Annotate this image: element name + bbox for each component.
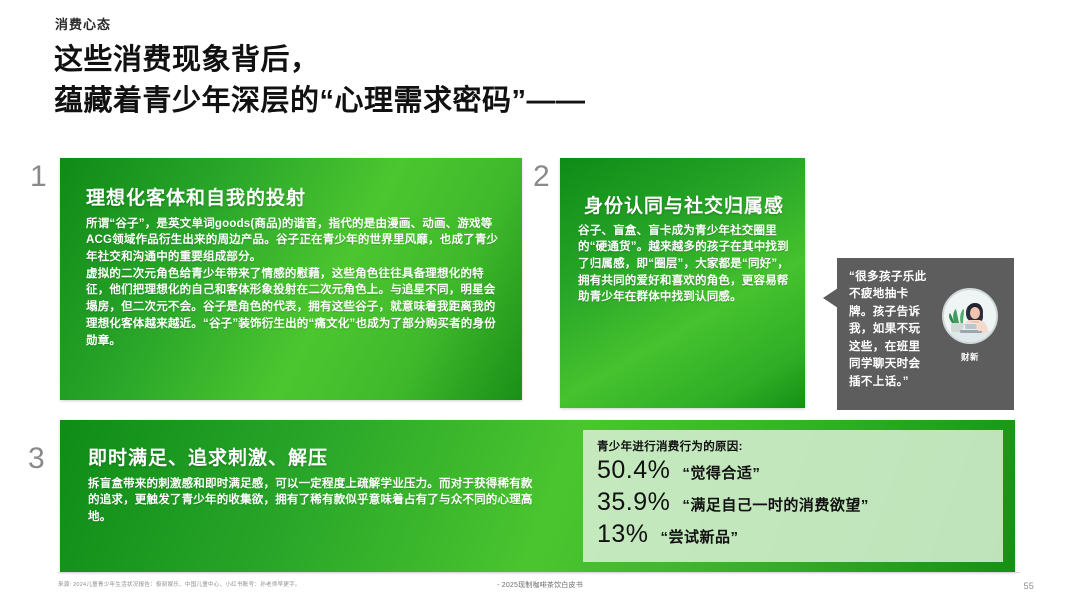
statistic-row: 35.9% “满足自己一时的消费欲望”	[597, 487, 989, 518]
statistic-value: 35.9%	[597, 487, 670, 518]
statistic-row: 50.4% “觉得合适”	[597, 455, 989, 486]
page-title: 这些消费现象背后， 蕴藏着青少年深层的“心理需求密码”——	[54, 40, 954, 122]
card-1-body: 所谓“谷子”，是英文单词goods(商品)的谐音，指代的是由漫画、动画、游戏等A…	[86, 216, 506, 349]
statistic-row: 13% “尝试新品”	[597, 519, 989, 550]
card-1-paragraph-2: 虚拟的二次元角色给青少年带来了情感的慰藉，这些角色往往具备理想化的特征，他们把理…	[86, 266, 506, 349]
card-3-paragraph-1: 拆盲盒带来的刺激感和即时满足感，可以一定程度上疏解学业压力。而对于获得稀有款的追…	[88, 476, 543, 526]
card-3-title: 即时满足、追求刺激、解压	[88, 448, 543, 471]
card-numeral-1: 1	[30, 160, 47, 194]
quote-text: “很多孩子乐此不疲地抽卡牌。孩子告诉我，如果不玩这些，在班里同学聊天时会插不上话…	[849, 269, 927, 391]
card-1-title: 理想化客体和自我的投射	[86, 188, 506, 211]
statistics-panel: 青少年进行消费行为的原因: 50.4% “觉得合适” 35.9% “满足自己一时…	[583, 430, 1003, 562]
card-2-paragraph-1: 谷子、盲盒、盲卡成为青少年社交圈里的“硬通货”。越来越多的孩子在其中找到了归属感…	[578, 223, 790, 306]
insight-card-2: 身份认同与社交归属感 谷子、盲盒、盲卡成为青少年社交圈里的“硬通货”。越来越多的…	[560, 158, 805, 408]
quote-bubble-tail	[823, 288, 838, 308]
footer-page-number: 55	[1024, 581, 1034, 591]
headline-line-1: 这些消费现象背后，	[54, 44, 320, 76]
section-kicker: 消费心态	[55, 14, 111, 33]
card-2-body: 谷子、盲盒、盲卡成为青少年社交圈里的“硬通货”。越来越多的孩子在其中找到了归属感…	[578, 223, 790, 306]
statistic-label: “觉得合适”	[682, 462, 760, 483]
card-2-title: 身份认同与社交归属感	[578, 196, 790, 219]
statistic-label: “满足自己一时的消费欲望”	[682, 494, 869, 515]
card-numeral-3: 3	[28, 442, 45, 476]
headline-line-2: 蕴藏着青少年深层的“心理需求密码”——	[54, 81, 954, 122]
statistic-value: 13%	[597, 519, 649, 550]
quote-bubble: “很多孩子乐此不疲地抽卡牌。孩子告诉我，如果不玩这些，在班里同学聊天时会插不上话…	[837, 258, 1014, 410]
footer-divider	[58, 572, 1020, 573]
insight-card-1: 理想化客体和自我的投射 所谓“谷子”，是英文单词goods(商品)的谐音，指代的…	[60, 158, 522, 400]
footer-document-title: - 2025现制咖啡茶饮白皮书	[0, 580, 1080, 590]
quote-attribution: 财新	[940, 288, 1000, 363]
card-numeral-2: 2	[533, 160, 550, 194]
card-3-body: 拆盲盒带来的刺激感和即时满足感，可以一定程度上疏解学业压力。而对于获得稀有款的追…	[88, 476, 543, 526]
card-1-paragraph-1: 所谓“谷子”，是英文单词goods(商品)的谐音，指代的是由漫画、动画、游戏等A…	[86, 216, 506, 266]
avatar-label: 财新	[940, 351, 1000, 363]
statistic-label: “尝试新品”	[661, 526, 739, 547]
statistic-value: 50.4%	[597, 455, 670, 486]
avatar-illustration-icon	[944, 290, 998, 344]
avatar	[942, 288, 998, 344]
statistics-caption: 青少年进行消费行为的原因:	[597, 438, 989, 454]
